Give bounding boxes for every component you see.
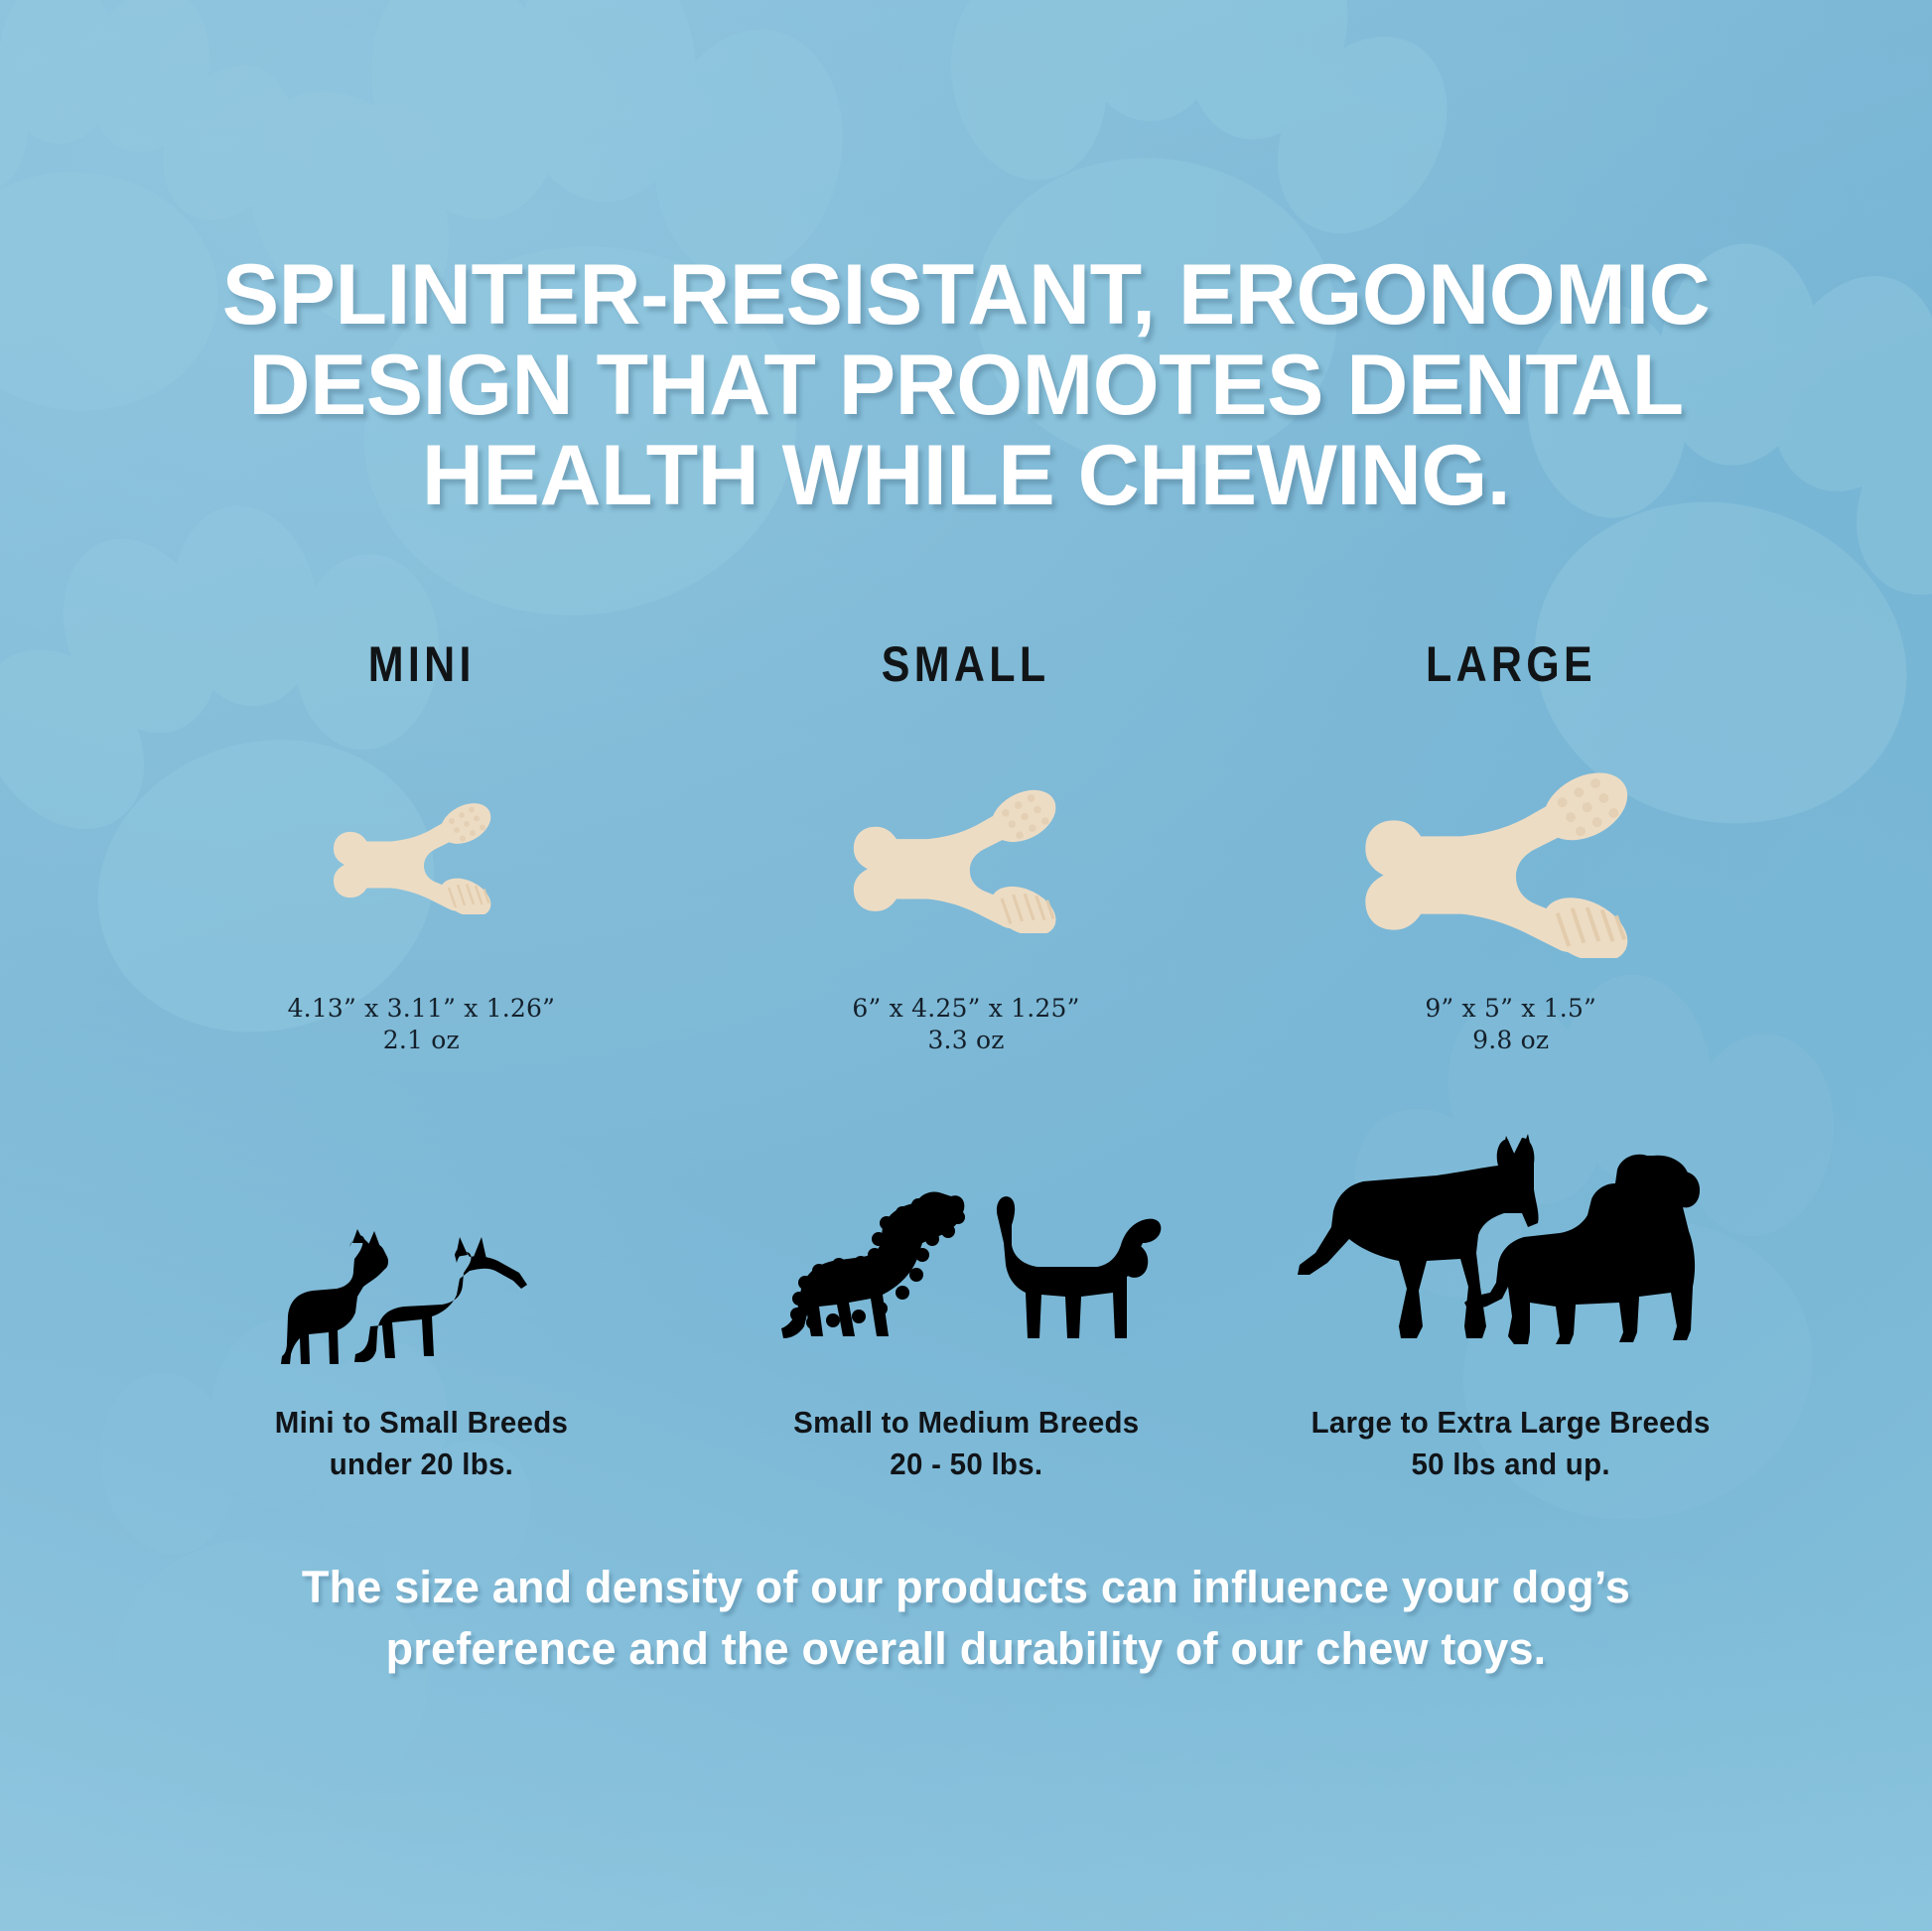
toy-image-mini: [317, 721, 525, 979]
weight-text-mini: 2.1 oz: [288, 1025, 556, 1056]
footer-note: The size and density of our products can…: [0, 1557, 1932, 1680]
y-shaped-bone-chew-toy-icon: [1337, 743, 1685, 958]
weight-text-small: 3.3 oz: [852, 1025, 1079, 1056]
product-size-chart-poster: SPLINTER-RESISTANT, ERGONOMIC DESIGN THA…: [0, 0, 1932, 1931]
size-title-mini: MINI: [367, 635, 475, 693]
breed-line-2-small: 20 - 50 lbs.: [793, 1444, 1139, 1485]
y-shaped-bone-chew-toy-icon: [317, 785, 525, 914]
dimensions-text-large: 9” x 5” x 1.5”: [1425, 994, 1596, 1023]
breed-line-1-large: Large to Extra Large Breeds: [1311, 1402, 1711, 1444]
dimensions-text-small: 6” x 4.25” x 1.25”: [852, 994, 1079, 1023]
footer-line-2: preference and the overall durability of…: [248, 1618, 1684, 1680]
breed-caption-mini: Mini to Small Breeds under 20 lbs.: [275, 1402, 568, 1484]
breed-line-1-small: Small to Medium Breeds: [793, 1402, 1139, 1444]
dimensions-small: 6” x 4.25” x 1.25” 3.3 oz: [852, 993, 1079, 1056]
size-title-small: SMALL: [882, 635, 1050, 693]
weight-text-large: 9.8 oz: [1425, 1025, 1596, 1056]
y-shaped-bone-chew-toy-icon: [832, 766, 1100, 933]
breed-line-1-mini: Mini to Small Breeds: [275, 1402, 568, 1444]
toy-image-small: [832, 721, 1100, 979]
breed-line-2-large: 50 lbs and up.: [1311, 1444, 1711, 1485]
headline-line-3: HEALTH WHILE CHEWING.: [149, 431, 1783, 521]
size-column-small: SMALL: [694, 635, 1239, 1484]
large-dog-silhouette-icon: [1288, 1128, 1734, 1376]
size-title-large: LARGE: [1426, 635, 1596, 693]
small-dog-silhouette-icon: [257, 1227, 585, 1376]
dimensions-text-mini: 4.13” x 3.11” x 1.26”: [288, 994, 556, 1023]
breed-caption-large: Large to Extra Large Breeds 50 lbs and u…: [1311, 1402, 1711, 1484]
breed-line-2-mini: under 20 lbs.: [275, 1444, 568, 1485]
page-title: SPLINTER-RESISTANT, ERGONOMIC DESIGN THA…: [0, 250, 1932, 521]
dimensions-large: 9” x 5” x 1.5” 9.8 oz: [1425, 993, 1596, 1056]
size-column-mini: MINI: [149, 635, 694, 1484]
toy-image-large: [1337, 721, 1685, 979]
size-columns: MINI: [149, 635, 1783, 1484]
size-column-large: LARGE: [1238, 635, 1783, 1484]
medium-dog-silhouette-icon: [767, 1187, 1165, 1376]
dog-silhouettes-small: [767, 1078, 1165, 1376]
headline-line-2: DESIGN THAT PROMOTES DENTAL: [149, 341, 1783, 431]
footer-line-1: The size and density of our products can…: [248, 1557, 1684, 1618]
breed-caption-small: Small to Medium Breeds 20 - 50 lbs.: [793, 1402, 1139, 1484]
dog-silhouettes-mini: [257, 1078, 585, 1376]
dimensions-mini: 4.13” x 3.11” x 1.26” 2.1 oz: [288, 993, 556, 1056]
headline-line-1: SPLINTER-RESISTANT, ERGONOMIC: [149, 250, 1783, 341]
dog-silhouettes-large: [1288, 1078, 1734, 1376]
